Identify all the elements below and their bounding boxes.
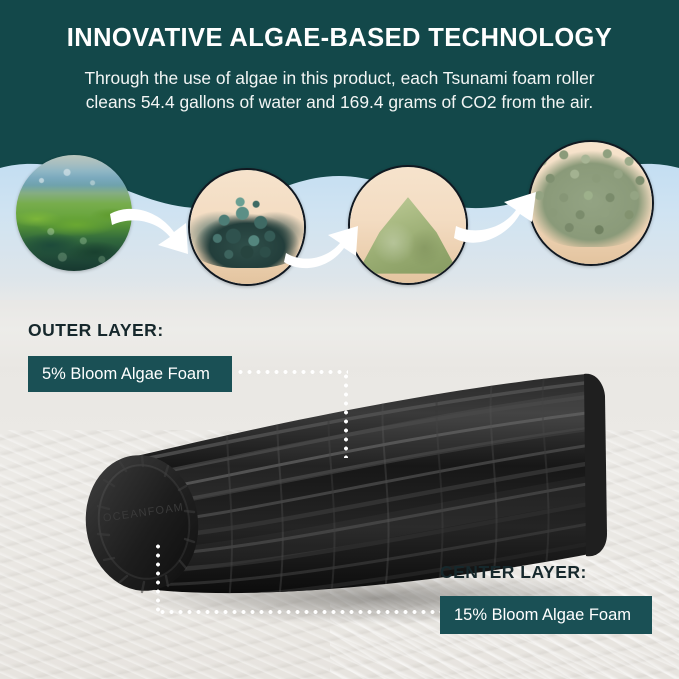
process-arrow-1 [108, 198, 204, 267]
algae-pellets-image [530, 142, 652, 264]
outer-layer-heading: OUTER LAYER: [28, 320, 164, 341]
page-title: INNOVATIVE ALGAE-BASED TECHNOLOGY [0, 0, 679, 52]
center-layer-connector-vertical [156, 542, 160, 614]
center-layer-value-box: 15% Bloom Algae Foam [440, 596, 652, 634]
algae-technology-infographic: INNOVATIVE ALGAE-BASED TECHNOLOGY Throug… [0, 0, 679, 679]
roller-right-end [584, 374, 607, 556]
process-arrow-3 [452, 190, 548, 263]
outer-layer-value-box: 5% Bloom Algae Foam [28, 356, 232, 392]
outer-layer-value: 5% Bloom Algae Foam [42, 365, 210, 384]
powder-pile-shading [357, 197, 459, 274]
header-text-block: INNOVATIVE ALGAE-BASED TECHNOLOGY Throug… [0, 0, 679, 114]
arrow-right-icon [452, 190, 548, 258]
header-subtitle: Through the use of algae in this product… [0, 52, 679, 114]
arrow-right-icon [108, 198, 204, 262]
center-layer-heading: CENTER LAYER: [440, 562, 587, 583]
outer-layer-connector-horizontal [236, 370, 348, 374]
center-layer-connector-horizontal [158, 610, 442, 614]
arrow-right-icon [282, 222, 370, 278]
center-layer-value: 15% Bloom Algae Foam [454, 606, 631, 625]
outer-layer-connector-vertical [344, 372, 348, 458]
process-arrow-2 [282, 222, 370, 283]
